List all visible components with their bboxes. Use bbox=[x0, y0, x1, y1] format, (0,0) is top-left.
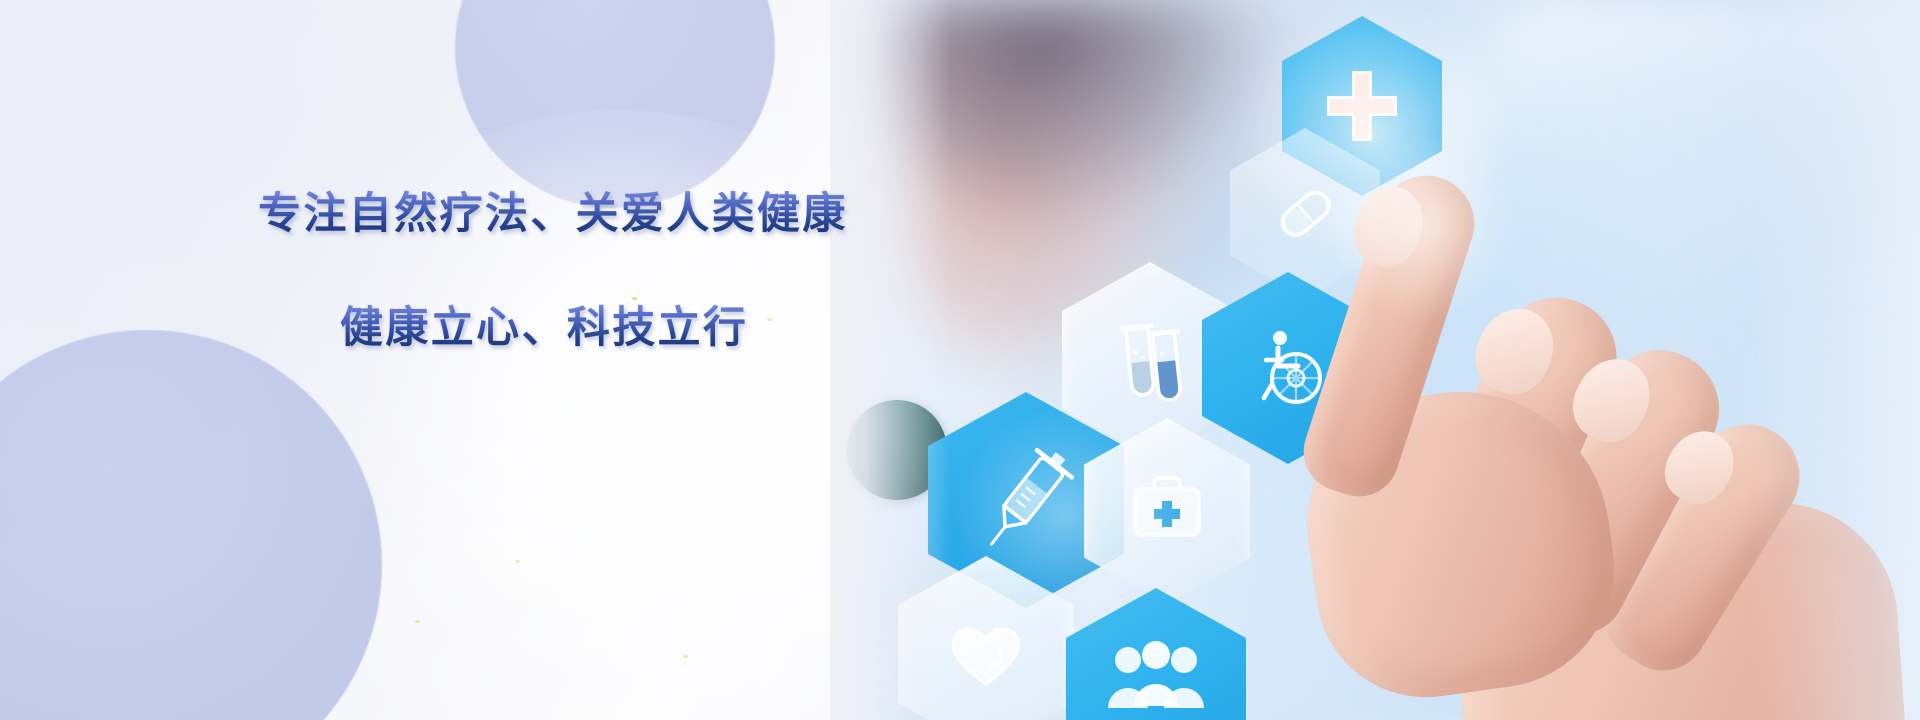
headline-line-2: 健康立心、科技立行 bbox=[340, 302, 878, 354]
speck-particle bbox=[515, 560, 520, 563]
headline-block: 专注自然疗法、关爱人类健康 健康立心、科技立行 bbox=[258, 188, 878, 354]
syringe-icon bbox=[968, 442, 1084, 558]
clinician-photo-panel bbox=[830, 0, 1920, 720]
speck-particle bbox=[415, 620, 420, 623]
speck-particle bbox=[425, 218, 430, 221]
headline-line-1: 专注自然疗法、关爱人类健康 bbox=[258, 188, 878, 240]
photo-left-fade bbox=[830, 0, 950, 720]
fingertip-glow bbox=[1328, 132, 1518, 322]
speck-particle bbox=[683, 655, 688, 658]
hero-banner: 专注自然疗法、关爱人类健康 健康立心、科技立行 bbox=[0, 0, 1920, 720]
photo-right-vignette bbox=[1750, 0, 1920, 720]
speck-particle bbox=[767, 318, 772, 321]
heart-icon bbox=[938, 606, 1034, 702]
speck-particle bbox=[632, 297, 637, 300]
